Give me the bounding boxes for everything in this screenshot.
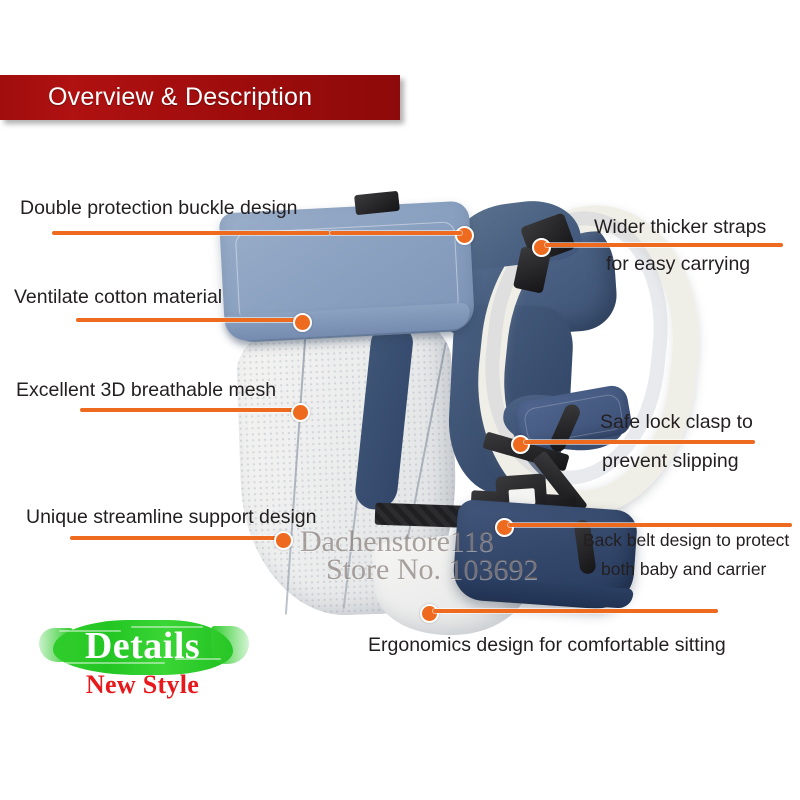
callout-line-wider-thicker-straps	[545, 243, 783, 247]
callout-label-double-protection-buckle-design: Double protection buckle design	[20, 196, 298, 221]
badge-subtitle: New Style	[35, 670, 250, 700]
callout-line-excellent-3d-breathable-mesh	[80, 408, 298, 412]
callout-dot-wider-thicker-straps	[532, 238, 551, 257]
callout-dot-unique-streamline-support-design	[274, 531, 293, 550]
callout-line-safe-lock-clasp	[524, 440, 755, 444]
callout-line-ventilate-cotton-material	[76, 318, 300, 322]
section-header-banner: Overview & Description	[0, 75, 400, 120]
callout-label-ergonomics-design: Ergonomics design for comfortable sittin…	[368, 633, 726, 658]
page-title: Overview & Description	[48, 83, 312, 112]
callout-dot-double-protection-buckle-design	[455, 226, 474, 245]
callout-line-ergonomics-design	[433, 609, 718, 613]
callout-dot-back-belt-design	[495, 518, 514, 537]
callout-label-back-belt-design-line2: both baby and carrier	[601, 557, 766, 582]
callout-dot-excellent-3d-breathable-mesh	[291, 403, 310, 422]
details-badge: Details New Style	[35, 612, 250, 712]
callout-dot-ergonomics-design	[420, 604, 439, 623]
callout-dot-safe-lock-clasp	[511, 435, 530, 454]
callout-line-double-protection-buckle-design	[52, 231, 330, 235]
callout-dot-ventilate-cotton-material	[293, 313, 312, 332]
callout-label-wider-thicker-straps-line2: for easy carrying	[606, 252, 750, 277]
callout-line-double-protection-buckle-design-2	[330, 231, 462, 235]
callout-label-safe-lock-clasp-line1: Safe lock clasp to	[600, 410, 753, 435]
callout-label-back-belt-design-line1: Back belt design to protect	[583, 528, 789, 553]
callout-label-wider-thicker-straps-line1: Wider thicker straps	[594, 215, 766, 240]
callout-line-unique-streamline-support-design	[70, 536, 282, 540]
badge-title: Details	[35, 624, 250, 668]
callout-label-excellent-3d-breathable-mesh: Excellent 3D breathable mesh	[16, 378, 276, 403]
callout-label-ventilate-cotton-material: Ventilate cotton material	[14, 285, 222, 310]
callout-line-back-belt-design	[508, 523, 792, 527]
infographic-canvas: Overview & Description	[0, 0, 800, 800]
callout-label-safe-lock-clasp-line2: prevent slipping	[602, 449, 739, 474]
callout-label-unique-streamline-support-design: Unique streamline support design	[26, 505, 317, 530]
